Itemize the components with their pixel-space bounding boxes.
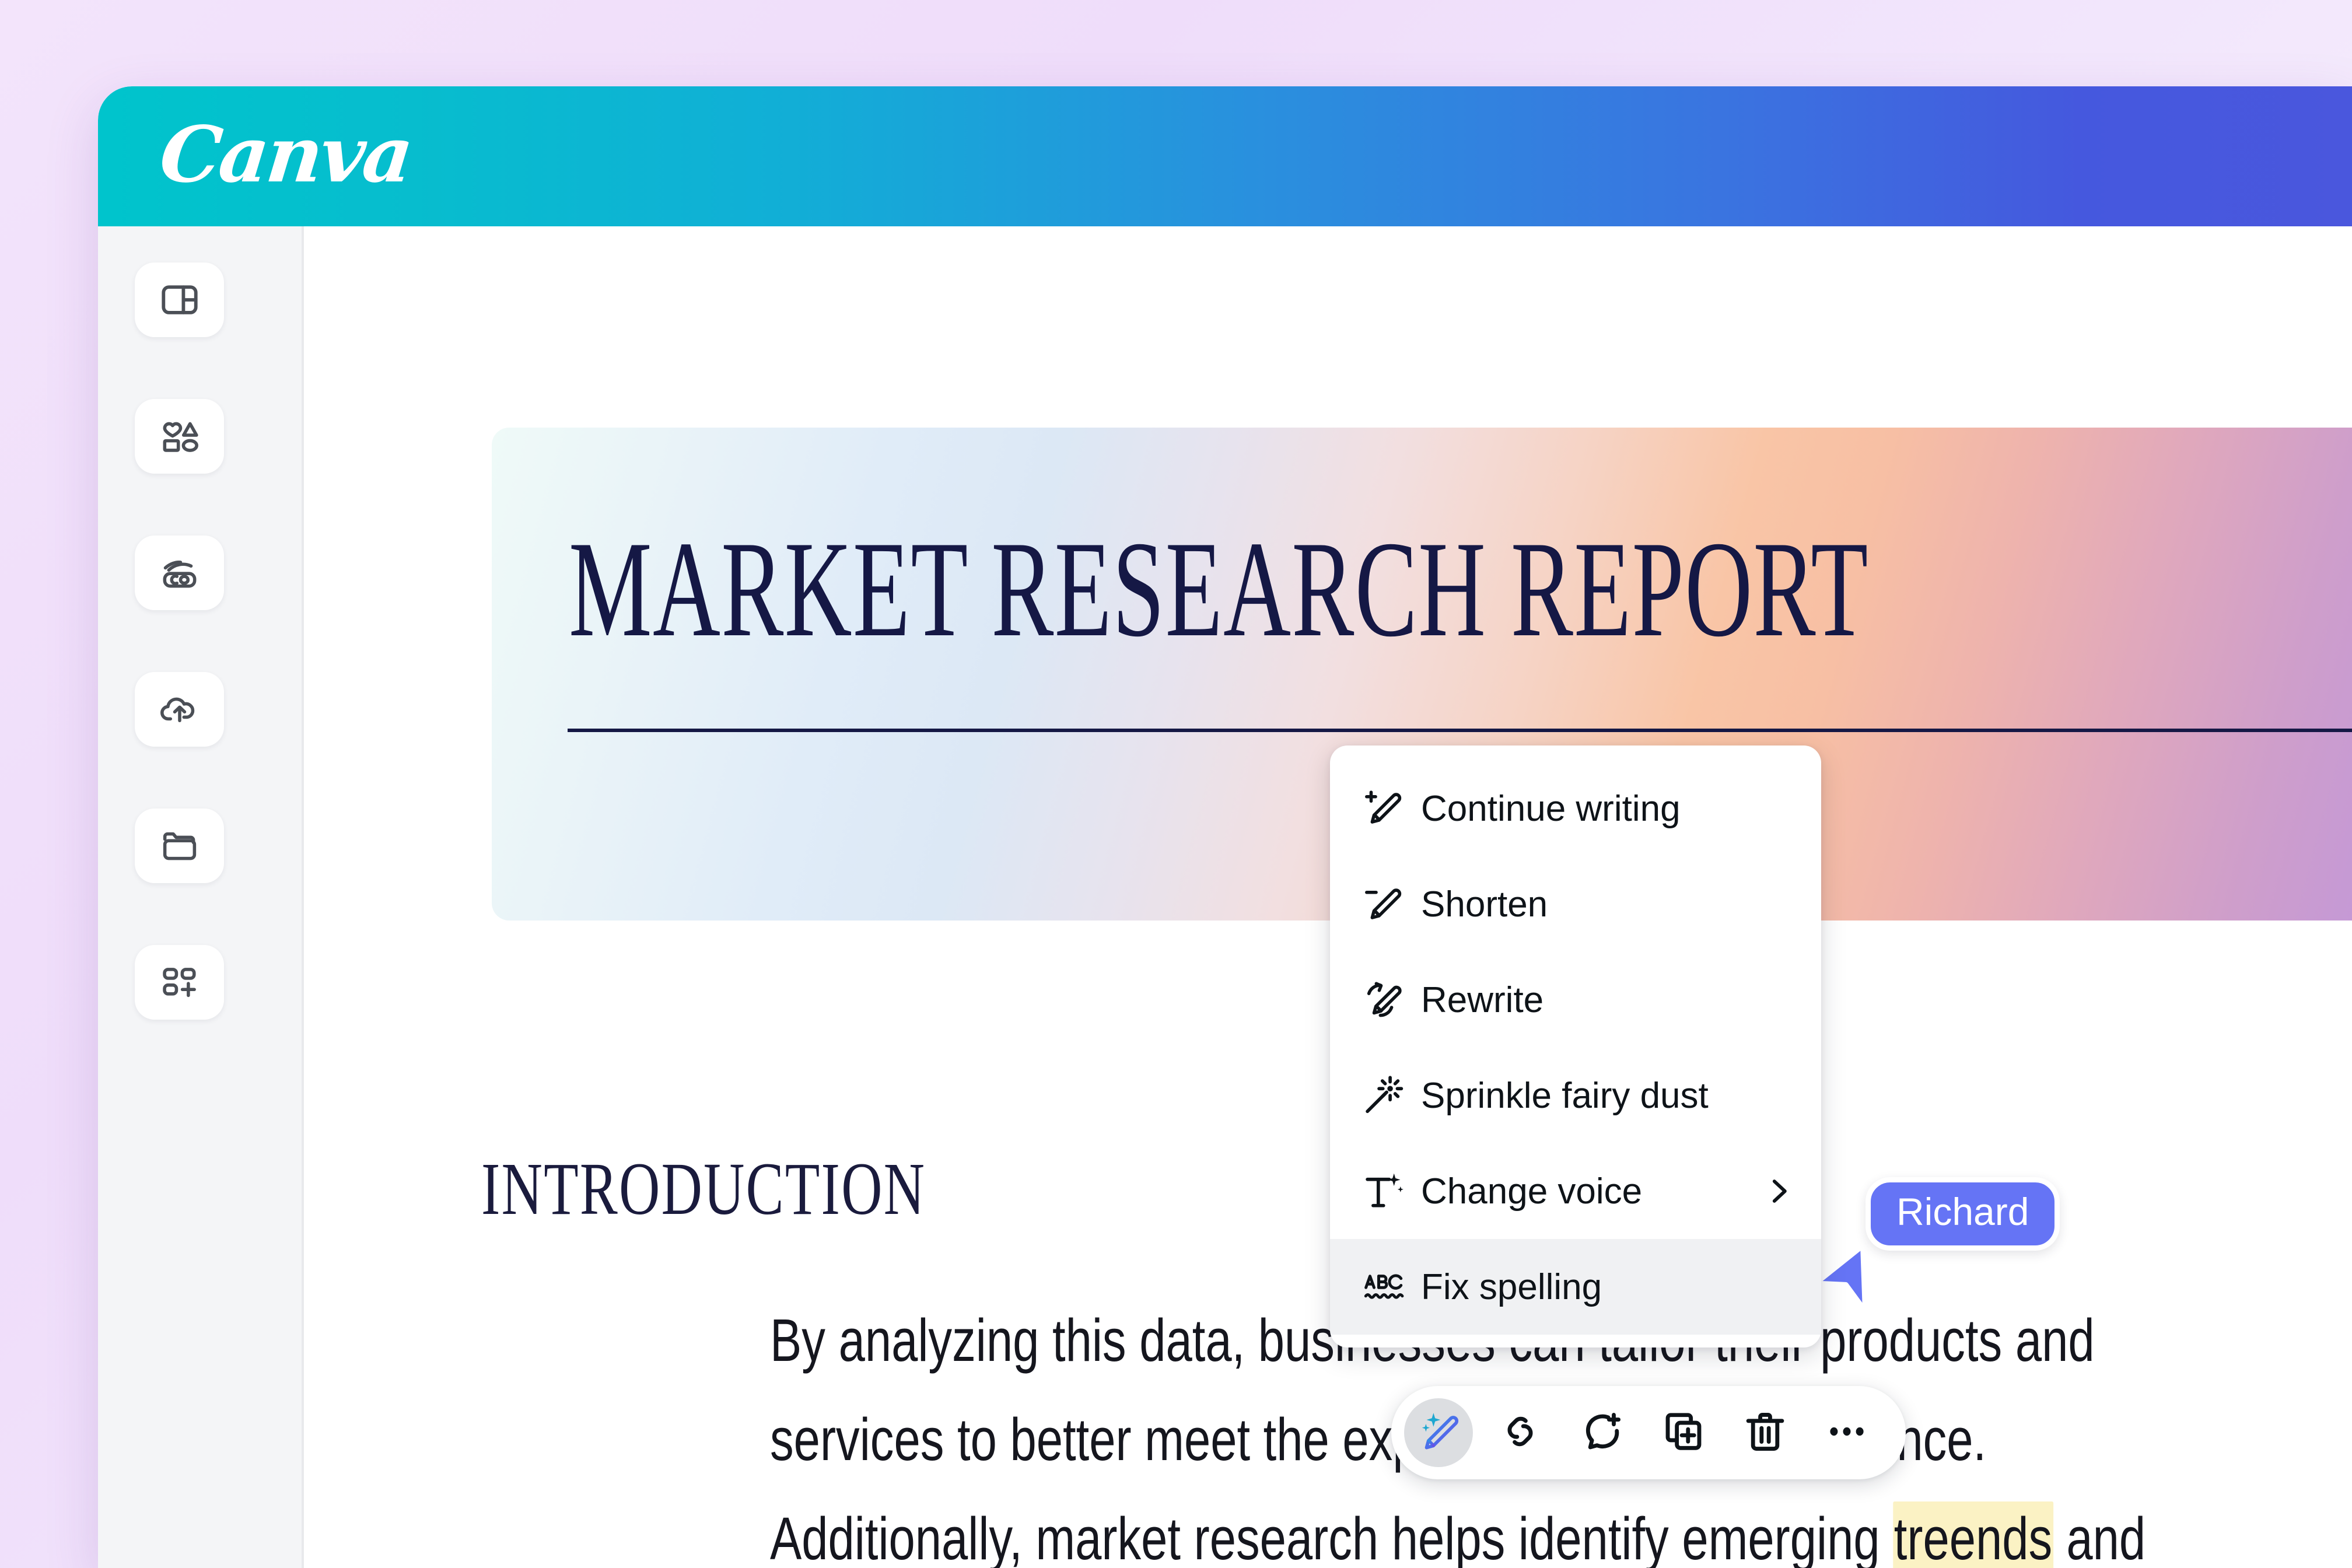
link-icon xyxy=(1497,1409,1543,1457)
canva-logo[interactable]: Canva xyxy=(156,117,415,194)
shapes-icon xyxy=(159,416,200,457)
menu-item-label: Rewrite xyxy=(1421,979,1543,1021)
document-title[interactable]: MARKET RESEARCH REPORT xyxy=(569,521,1869,659)
menu-item-sprinkle-fairy-dust[interactable]: Sprinkle fairy dust xyxy=(1330,1048,1821,1143)
co-brand-icon xyxy=(159,552,200,593)
duplicate-button[interactable] xyxy=(1649,1398,1718,1467)
more-options-button[interactable] xyxy=(1812,1398,1881,1467)
trash-icon xyxy=(1742,1409,1788,1457)
menu-item-rewrite[interactable]: Rewrite xyxy=(1330,952,1821,1048)
text-sparkle-icon xyxy=(1361,1169,1410,1213)
menu-item-label: Sprinkle fairy dust xyxy=(1421,1075,1709,1116)
sidebar-item-design[interactable] xyxy=(135,262,224,337)
top-bar: Canva xyxy=(98,86,2352,226)
sidebar-item-elements[interactable] xyxy=(135,399,224,474)
menu-item-label: Continue writing xyxy=(1421,788,1681,829)
menu-item-label: Change voice xyxy=(1421,1171,1642,1212)
add-comment-button[interactable] xyxy=(1567,1398,1636,1467)
sidebar-item-apps[interactable] xyxy=(135,945,224,1020)
layout-panel-icon xyxy=(159,279,200,320)
pencil-minus-icon xyxy=(1361,882,1410,926)
title-divider-rule xyxy=(568,729,2352,732)
magic-write-button[interactable] xyxy=(1404,1398,1473,1467)
abc-spellcheck-icon xyxy=(1361,1265,1410,1309)
element-toolbar[interactable] xyxy=(1391,1386,1906,1479)
magic-write-menu[interactable]: Continue writing Shorten xyxy=(1330,745,1821,1347)
folder-icon xyxy=(159,825,200,866)
menu-item-continue-writing[interactable]: Continue writing xyxy=(1330,761,1821,856)
sidebar-item-uploads[interactable] xyxy=(135,672,224,747)
ellipsis-icon xyxy=(1824,1409,1870,1457)
pencil-rewrite-icon xyxy=(1361,978,1410,1022)
chevron-right-icon xyxy=(1762,1174,1796,1208)
section-heading-introduction[interactable]: INTRODUCTION xyxy=(481,1151,926,1226)
sidebar xyxy=(98,226,304,1568)
duplicate-icon xyxy=(1661,1409,1706,1457)
pencil-plus-icon xyxy=(1361,786,1410,831)
misspelled-word-highlight[interactable]: treends xyxy=(1893,1501,2053,1568)
menu-item-change-voice[interactable]: Change voice xyxy=(1330,1143,1821,1239)
cloud-upload-icon xyxy=(159,689,200,730)
document-canvas[interactable]: MARKET RESEARCH REPORT INTRODUCTION By a… xyxy=(306,226,2352,1568)
menu-item-label: Shorten xyxy=(1421,884,1548,925)
link-button[interactable] xyxy=(1486,1398,1555,1467)
delete-button[interactable] xyxy=(1731,1398,1800,1467)
collaborator-name-label: Richard xyxy=(1866,1177,2060,1251)
sidebar-item-projects[interactable] xyxy=(135,808,224,883)
menu-item-fix-spelling[interactable]: Fix spelling xyxy=(1330,1239,1821,1335)
menu-item-shorten[interactable]: Shorten xyxy=(1330,856,1821,952)
menu-bottom-padding xyxy=(1330,1335,1821,1347)
magic-wand-icon xyxy=(1361,1073,1410,1118)
sparkle-pencil-icon xyxy=(1416,1409,1461,1457)
app-window: Canva xyxy=(98,86,2352,1568)
menu-item-label: Fix spelling xyxy=(1421,1266,1602,1308)
sidebar-item-brand[interactable] xyxy=(135,535,224,610)
comment-plus-icon xyxy=(1579,1409,1625,1457)
apps-grid-plus-icon xyxy=(159,962,200,1003)
